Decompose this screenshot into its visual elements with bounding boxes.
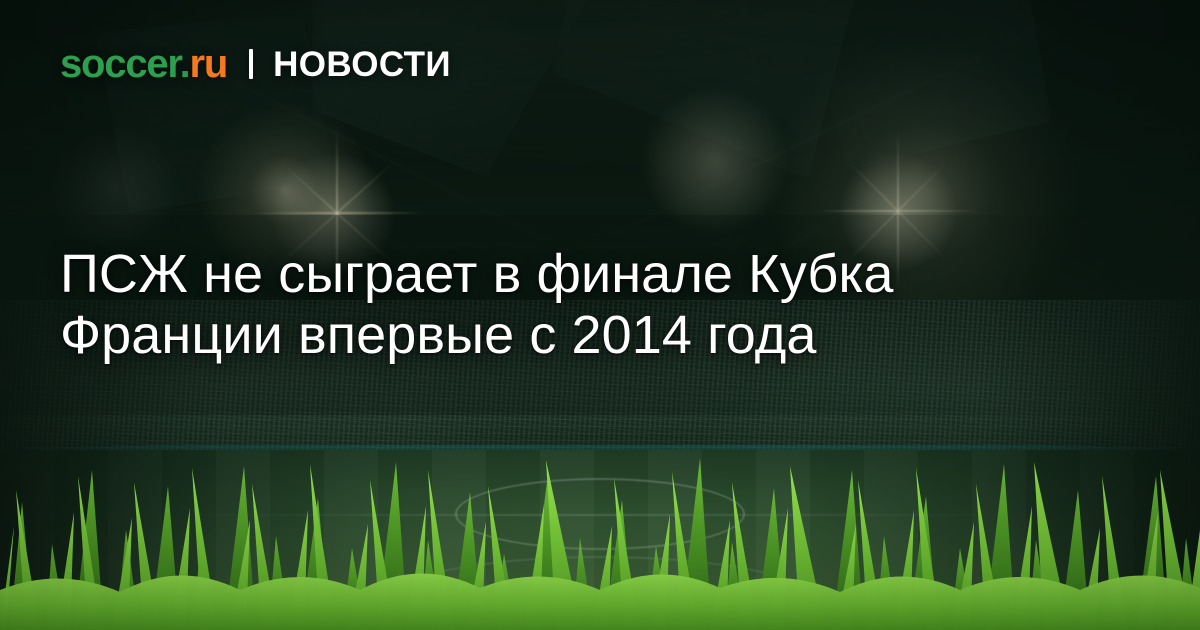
logo-word-soccer: soccer xyxy=(60,42,180,86)
logo-word-ru: ru xyxy=(190,42,228,86)
logo-dot: . xyxy=(180,42,190,86)
brand-divider-icon xyxy=(249,49,253,79)
brand-bar: soccer.ru НОВОСТИ xyxy=(60,44,451,84)
soccer-ru-logo[interactable]: soccer.ru xyxy=(60,44,227,84)
section-label-news: НОВОСТИ xyxy=(273,47,451,82)
card-content: soccer.ru НОВОСТИ ПСЖ не сыграет в финал… xyxy=(0,0,1200,630)
page-title: ПСЖ не сыграет в финале Кубка Франции вп… xyxy=(60,244,1060,366)
share-card: soccer.ru НОВОСТИ ПСЖ не сыграет в финал… xyxy=(0,0,1200,630)
